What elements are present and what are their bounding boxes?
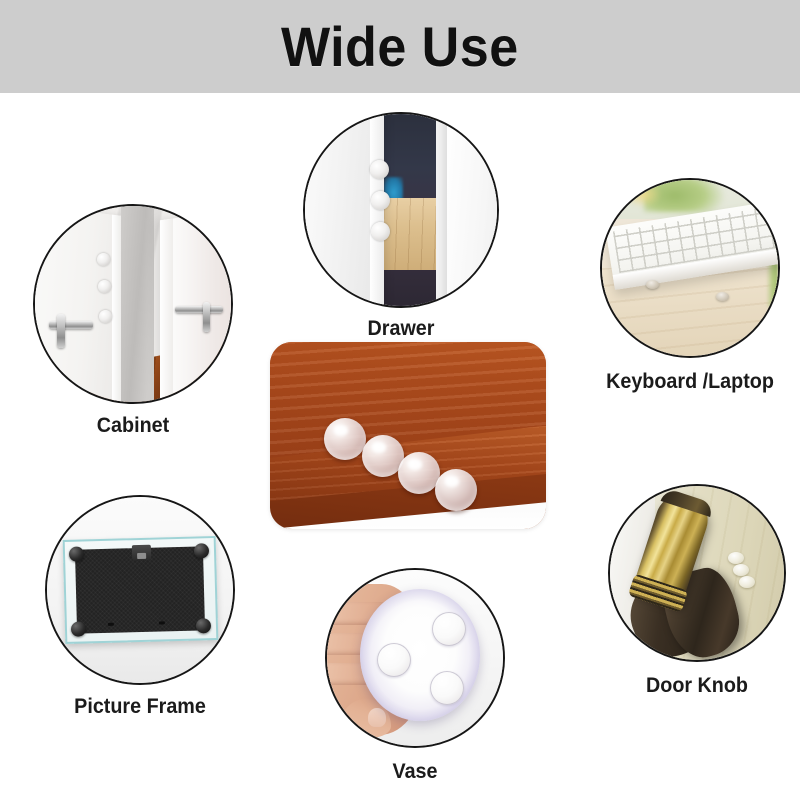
use-case-door-knob[interactable]: Door Knob — [608, 484, 786, 662]
bumper-pad — [739, 576, 755, 588]
use-case-cabinet[interactable]: Cabinet — [33, 204, 233, 404]
bumper-pad — [196, 618, 211, 633]
cabinet-handle-right — [175, 306, 223, 313]
center-hero-photo — [270, 342, 546, 529]
vase-base — [360, 589, 480, 721]
drawer-front-bevel — [370, 112, 384, 308]
page-title: Wide Use — [281, 14, 519, 79]
bumper-pad — [430, 671, 464, 705]
cabinet-handle-right-stem — [203, 302, 210, 332]
frame-notch — [159, 621, 165, 624]
frame-notch — [108, 622, 114, 625]
keyboard-photo-circle — [600, 178, 780, 358]
cabinet-photo-circle — [33, 204, 233, 404]
bumper-pad — [370, 160, 389, 179]
drawer-photo — [305, 114, 497, 306]
bumper-pad — [324, 418, 366, 460]
use-case-drawer[interactable]: Drawer — [303, 112, 499, 308]
cabinet-door-right-edge — [160, 218, 173, 404]
drawer-photo-circle — [303, 112, 499, 308]
bumper-pad — [71, 621, 86, 636]
picture-frame-photo — [47, 497, 233, 683]
frame-backing-board — [75, 546, 205, 633]
cabinet-gap — [121, 204, 154, 404]
bumper-pad — [435, 469, 477, 511]
cabinet-handle-left — [49, 321, 93, 329]
cabinet-photo — [35, 206, 231, 402]
door-knob-label: Door Knob — [646, 674, 748, 698]
use-case-keyboard-laptop[interactable]: Keyboard /Laptop — [600, 178, 780, 358]
frame-outer-board — [62, 536, 217, 644]
bumper-pad — [371, 191, 390, 210]
picture-frame-photo-circle — [45, 495, 235, 685]
drawer-right-panel — [447, 112, 499, 308]
bumper-pad — [99, 310, 112, 323]
vase-photo — [327, 570, 503, 746]
cabinet-door-left — [33, 204, 125, 404]
bumper-pad — [728, 552, 744, 564]
bumper-pad — [194, 543, 209, 558]
keyboard-laptop-label: Keyboard /Laptop — [606, 370, 774, 394]
drawer-label: Drawer — [368, 317, 435, 341]
door-knob-photo — [610, 486, 784, 660]
bumper-pad — [371, 222, 390, 241]
drawer-wood-panel — [384, 198, 436, 269]
bumper-pad — [432, 612, 466, 646]
bumper-pad — [646, 280, 659, 289]
cabinet-handle-left-stem — [57, 314, 65, 348]
bumper-pad — [97, 253, 110, 266]
picture-frame-label: Picture Frame — [74, 695, 206, 719]
bumper-pad — [733, 564, 749, 576]
bumper-pad — [98, 280, 111, 293]
bumper-pad — [398, 452, 440, 494]
plant-highlight — [623, 180, 662, 208]
frame-hanging-clip — [131, 545, 151, 560]
bumper-pad — [716, 292, 729, 301]
infographic-page: Wide Use Cabin — [0, 0, 800, 800]
vase-label: Vase — [392, 760, 437, 784]
header-band: Wide Use — [0, 0, 800, 93]
keyboard-photo — [602, 180, 778, 356]
thumbnail — [368, 708, 385, 727]
vase-photo-circle — [325, 568, 505, 748]
cabinet-label: Cabinet — [97, 414, 169, 438]
use-case-picture-frame[interactable]: Picture Frame — [45, 495, 235, 685]
use-case-vase[interactable]: Vase — [325, 568, 505, 748]
door-knob-photo-circle — [608, 484, 786, 662]
drawer-front-panel — [303, 112, 384, 308]
